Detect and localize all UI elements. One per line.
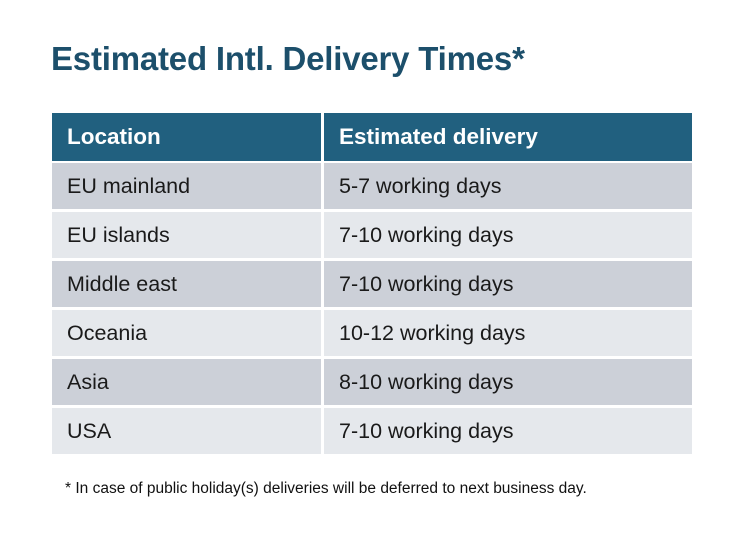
cell-estimated-delivery: 10-12 working days bbox=[324, 310, 692, 356]
column-header-estimated-delivery: Estimated delivery bbox=[324, 113, 692, 161]
footnote-text: * In case of public holiday(s) deliverie… bbox=[65, 479, 587, 499]
column-header-location: Location bbox=[52, 113, 321, 161]
table-row: Oceania 10-12 working days bbox=[52, 310, 692, 356]
table-row: EU islands 7-10 working days bbox=[52, 212, 692, 258]
table-row: EU mainland 5-7 working days bbox=[52, 163, 692, 209]
cell-location: Asia bbox=[52, 359, 321, 405]
cell-location: USA bbox=[52, 408, 321, 454]
cell-location: EU islands bbox=[52, 212, 321, 258]
table-row: Middle east 7-10 working days bbox=[52, 261, 692, 307]
cell-estimated-delivery: 8-10 working days bbox=[324, 359, 692, 405]
cell-location: Middle east bbox=[52, 261, 321, 307]
cell-estimated-delivery: 7-10 working days bbox=[324, 261, 692, 307]
table-header-row: Location Estimated delivery bbox=[52, 113, 692, 161]
delivery-times-table: Location Estimated delivery EU mainland … bbox=[52, 113, 692, 454]
cell-location: EU mainland bbox=[52, 163, 321, 209]
page-title: Estimated Intl. Delivery Times* bbox=[51, 39, 525, 79]
cell-estimated-delivery: 5-7 working days bbox=[324, 163, 692, 209]
cell-estimated-delivery: 7-10 working days bbox=[324, 212, 692, 258]
cell-location: Oceania bbox=[52, 310, 321, 356]
table-row: Asia 8-10 working days bbox=[52, 359, 692, 405]
table-row: USA 7-10 working days bbox=[52, 408, 692, 454]
cell-estimated-delivery: 7-10 working days bbox=[324, 408, 692, 454]
delivery-times-panel: Estimated Intl. Delivery Times* Location… bbox=[0, 0, 745, 536]
